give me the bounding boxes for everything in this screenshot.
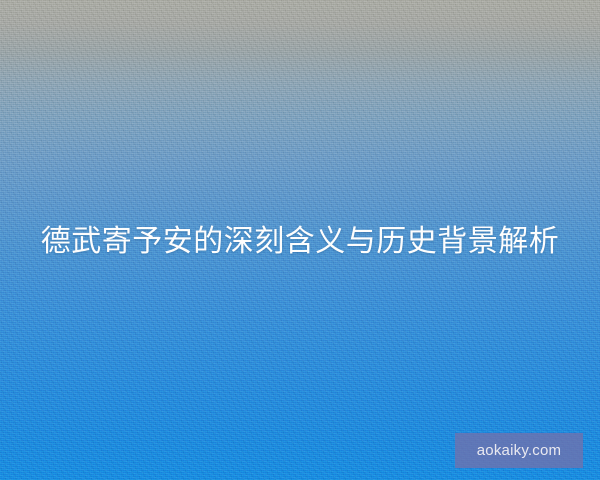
image-canvas: 德武寄予安的深刻含义与历史背景解析 aokaiky.com	[0, 0, 600, 480]
watermark-chip: aokaiky.com	[455, 433, 583, 468]
watermark-text: aokaiky.com	[477, 443, 561, 458]
headline-title: 德武寄予安的深刻含义与历史背景解析	[0, 222, 600, 262]
